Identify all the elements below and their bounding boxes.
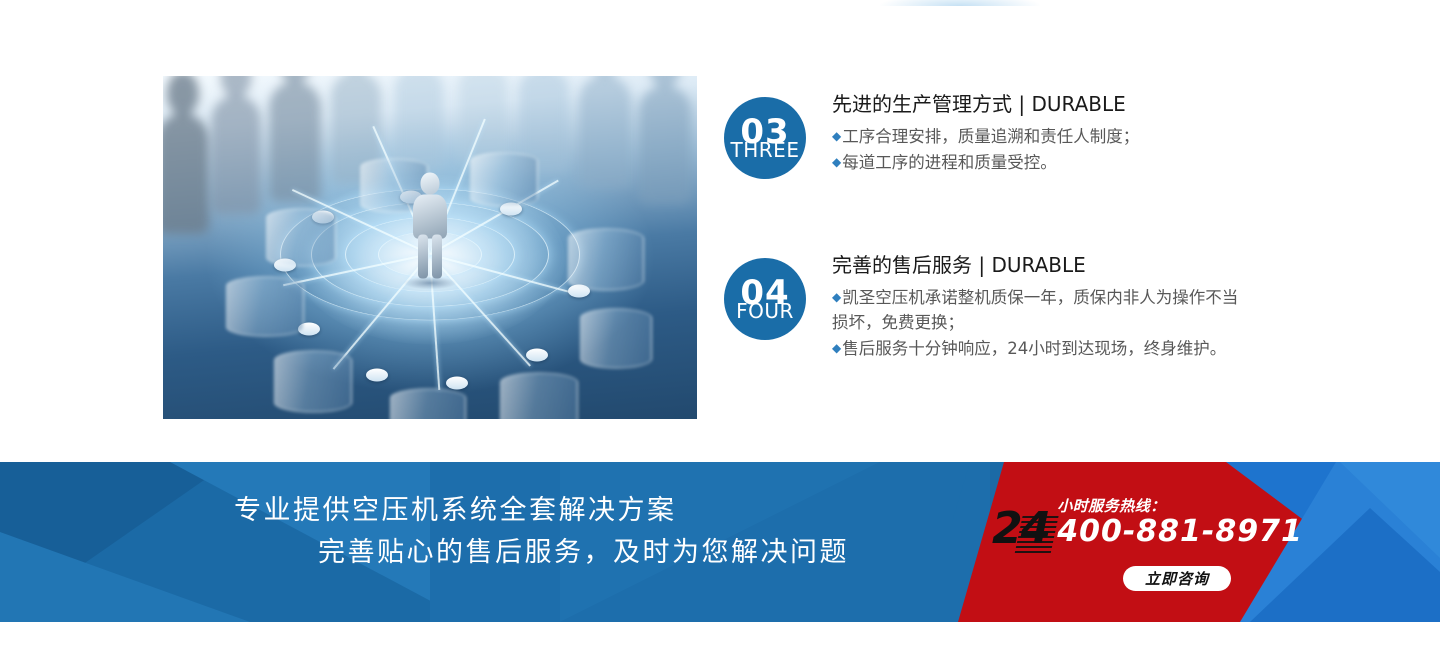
network-illustration xyxy=(163,76,697,419)
bullet-diamond-icon: ◆ xyxy=(832,290,841,304)
feature-item-04: 04 FOUR 完善的售后服务 | DURABLE ◆凯圣空压机承诺整机质保一年… xyxy=(724,253,1254,361)
figure-leg-right xyxy=(432,234,442,278)
silhouette xyxy=(639,86,691,204)
hotline-row: 24 小时服务热线： 400-881-8971 xyxy=(992,498,1322,550)
bullet-diamond-icon: ◆ xyxy=(832,155,841,169)
silhouette xyxy=(163,114,209,234)
badge-04: 04 FOUR xyxy=(724,258,806,340)
hotline-block: 24 小时服务热线： 400-881-8971 xyxy=(992,498,1322,550)
feature-line-text: 每道工序的进程和质量受控。 xyxy=(842,153,1057,172)
top-cutoff-smudge xyxy=(880,0,1040,6)
feature-line: ◆工序合理安排，质量追溯和责任人制度； xyxy=(832,124,1139,149)
hours-24-text: 24 xyxy=(992,503,1049,554)
badge-word: FOUR xyxy=(724,301,806,321)
central-human-figure xyxy=(410,172,450,280)
node-cylinder xyxy=(580,309,652,369)
feature-line: ◆凯圣空压机承诺整机质保一年，质保内非人为操作不当损坏，免费更换； xyxy=(832,285,1252,335)
node-cylinder xyxy=(500,373,578,419)
badge-word: THREE xyxy=(724,140,806,160)
hours-24-graphic: 24 xyxy=(992,509,1053,549)
feature-line-text: 工序合理安排，质量追溯和责任人制度； xyxy=(842,127,1139,146)
figure-body xyxy=(413,194,447,238)
node-cylinder xyxy=(266,209,336,267)
feature-line-text: 售后服务十分钟响应，24小时到达现场，终身维护。 xyxy=(842,339,1226,358)
node-cylinder xyxy=(470,153,538,207)
hotline-number[interactable]: 400-881-8971 xyxy=(1057,516,1303,548)
feature-line: ◆售后服务十分钟响应，24小时到达现场，终身维护。 xyxy=(832,336,1252,361)
bullet-diamond-icon: ◆ xyxy=(832,341,841,355)
network-stage xyxy=(250,137,610,372)
node-cylinder xyxy=(226,277,304,337)
hotline-text: 小时服务热线： 400-881-8971 xyxy=(1057,498,1303,550)
feature-title: 完善的售后服务 | DURABLE xyxy=(832,253,1252,278)
feature-list: 03 THREE 先进的生产管理方式 | DURABLE ◆工序合理安排，质量追… xyxy=(724,92,1254,361)
figure-head xyxy=(421,172,440,194)
feature-line: ◆每道工序的进程和质量受控。 xyxy=(832,150,1139,175)
feature-text-03: 先进的生产管理方式 | DURABLE ◆工序合理安排，质量追溯和责任人制度； … xyxy=(832,92,1139,175)
hotline-label: 小时服务热线： xyxy=(1057,498,1303,515)
network-node xyxy=(366,369,388,382)
feature-text-04: 完善的售后服务 | DURABLE ◆凯圣空压机承诺整机质保一年，质保内非人为操… xyxy=(832,253,1252,361)
network-node xyxy=(526,349,548,362)
figure-shadow xyxy=(403,276,457,289)
feature-line-text: 凯圣空压机承诺整机质保一年，质保内非人为操作不当损坏，免费更换； xyxy=(832,288,1238,332)
feature-item-03: 03 THREE 先进的生产管理方式 | DURABLE ◆工序合理安排，质量追… xyxy=(724,92,1254,179)
node-cylinder xyxy=(568,229,644,291)
banner-slogan: 专业提供空压机系统全套解决方案 完善贴心的售后服务，及时为您解决问题 xyxy=(0,490,920,574)
network-node xyxy=(446,377,468,390)
node-cylinder xyxy=(390,389,466,419)
slogan-line-2: 完善贴心的售后服务，及时为您解决问题 xyxy=(318,532,920,574)
slogan-line-1: 专业提供空压机系统全套解决方案 xyxy=(234,490,920,532)
figure-leg-left xyxy=(418,234,428,278)
consult-now-button[interactable]: 立即咨询 xyxy=(1123,566,1231,591)
promo-page: 03 THREE 先进的生产管理方式 | DURABLE ◆工序合理安排，质量追… xyxy=(0,0,1440,663)
bullet-diamond-icon: ◆ xyxy=(832,129,841,143)
badge-03: 03 THREE xyxy=(724,97,806,179)
node-cylinder xyxy=(274,351,352,413)
feature-title: 先进的生产管理方式 | DURABLE xyxy=(832,92,1139,117)
